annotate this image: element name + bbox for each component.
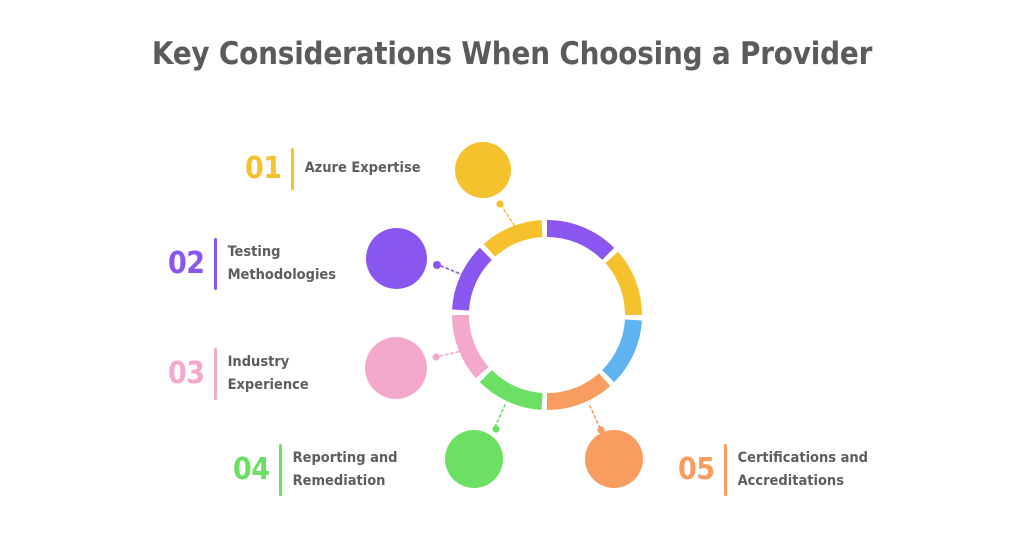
legend-number-03: 03 [168, 359, 205, 389]
bubble-azure-expertise [455, 142, 511, 198]
legend-number-02: 02 [168, 249, 205, 279]
bubble-reporting-remediation [445, 430, 503, 488]
legend-rule-05 [724, 444, 727, 496]
donut-segment-2 [612, 257, 634, 315]
donut-ring-chart [437, 205, 657, 425]
legend-rule-03 [214, 348, 217, 400]
donut-segment-3 [608, 320, 633, 376]
legend-item-05[interactable]: 05 Certifications and Accreditations [678, 444, 868, 496]
infographic-canvas: Key Considerations When Choosing a Provi… [0, 0, 1024, 536]
legend-number-05: 05 [678, 455, 715, 485]
legend-label-03: Industry Experience [228, 351, 309, 398]
legend-number-04: 04 [233, 455, 270, 485]
page-title: Key Considerations When Choosing a Provi… [0, 36, 1024, 72]
legend-number-01: 01 [245, 154, 282, 184]
legend-label-04: Reporting and Remediation [293, 447, 398, 494]
legend-label-01: Azure Expertise [305, 157, 421, 180]
legend-rule-01 [291, 148, 294, 190]
legend-label-05: Certifications and Accreditations [738, 447, 868, 494]
bubble-certifications-accreditations [585, 430, 643, 488]
legend-item-03[interactable]: 03 Industry Experience [168, 348, 309, 400]
legend-item-04[interactable]: 04 Reporting and Remediation [233, 444, 398, 496]
bubble-testing-methodologies [366, 228, 427, 289]
legend-label-02: Testing Methodologies [228, 241, 336, 288]
legend-item-02[interactable]: 02 Testing Methodologies [168, 238, 336, 290]
legend-rule-02 [214, 238, 217, 290]
donut-segment-4 [547, 380, 605, 402]
donut-segment-1 [547, 229, 608, 254]
donut-segment-8 [489, 229, 542, 251]
donut-segment-7 [461, 254, 486, 310]
legend-rule-04 [279, 444, 282, 496]
donut-segment-5 [486, 376, 542, 401]
bubble-industry-experience [365, 337, 427, 399]
donut-segment-6 [460, 315, 482, 373]
legend-item-01[interactable]: 01 Azure Expertise [245, 148, 421, 190]
